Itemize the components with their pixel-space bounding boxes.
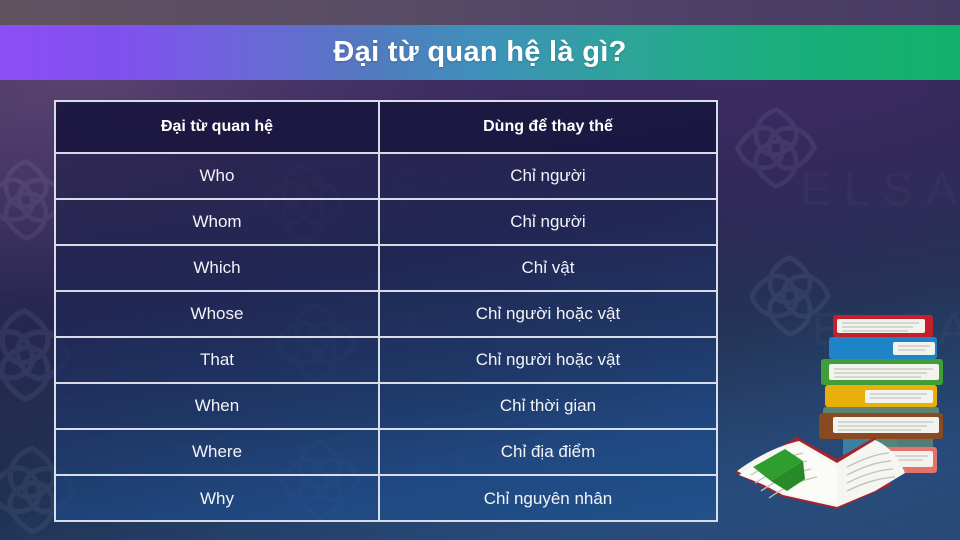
cell-pronoun: When [56, 384, 380, 428]
cell-usage: Chỉ thời gian [380, 384, 716, 428]
table-row: Why Chỉ nguyên nhân [56, 476, 716, 522]
cell-usage: Chỉ địa điểm [380, 430, 716, 474]
slide-root: ELSA ELSA ELSA ELSA ELSA ELSA ELSA ELSA … [0, 0, 960, 540]
title-banner: Đại từ quan hệ là gì? [0, 25, 960, 80]
top-edge-strip [0, 0, 960, 25]
cell-pronoun: Why [56, 476, 380, 522]
table-header-row: Đại từ quan hệ Dùng để thay thế [56, 102, 716, 154]
cell-usage: Chỉ người [380, 154, 716, 198]
cell-usage: Chỉ người [380, 200, 716, 244]
cell-pronoun: Where [56, 430, 380, 474]
cell-pronoun: Whose [56, 292, 380, 336]
books-illustration-icon [725, 295, 953, 533]
column-header-pronoun: Đại từ quan hệ [56, 102, 380, 152]
table-row: That Chỉ người hoặc vật [56, 338, 716, 384]
cell-usage: Chỉ người hoặc vật [380, 338, 716, 382]
relative-pronouns-table: Đại từ quan hệ Dùng để thay thế Who Chỉ … [54, 100, 718, 522]
table-row: Whose Chỉ người hoặc vật [56, 292, 716, 338]
cell-usage: Chỉ nguyên nhân [380, 476, 716, 522]
column-header-usage: Dùng để thay thế [380, 102, 716, 152]
table-row: When Chỉ thời gian [56, 384, 716, 430]
cell-usage: Chỉ vật [380, 246, 716, 290]
table-row: Who Chỉ người [56, 154, 716, 200]
table-row: Where Chỉ địa điểm [56, 430, 716, 476]
cell-pronoun: Whom [56, 200, 380, 244]
cell-pronoun: Who [56, 154, 380, 198]
page-title: Đại từ quan hệ là gì? [333, 36, 626, 69]
cell-pronoun: That [56, 338, 380, 382]
table-row: Which Chỉ vật [56, 246, 716, 292]
cell-usage: Chỉ người hoặc vật [380, 292, 716, 336]
cell-pronoun: Which [56, 246, 380, 290]
table-row: Whom Chỉ người [56, 200, 716, 246]
